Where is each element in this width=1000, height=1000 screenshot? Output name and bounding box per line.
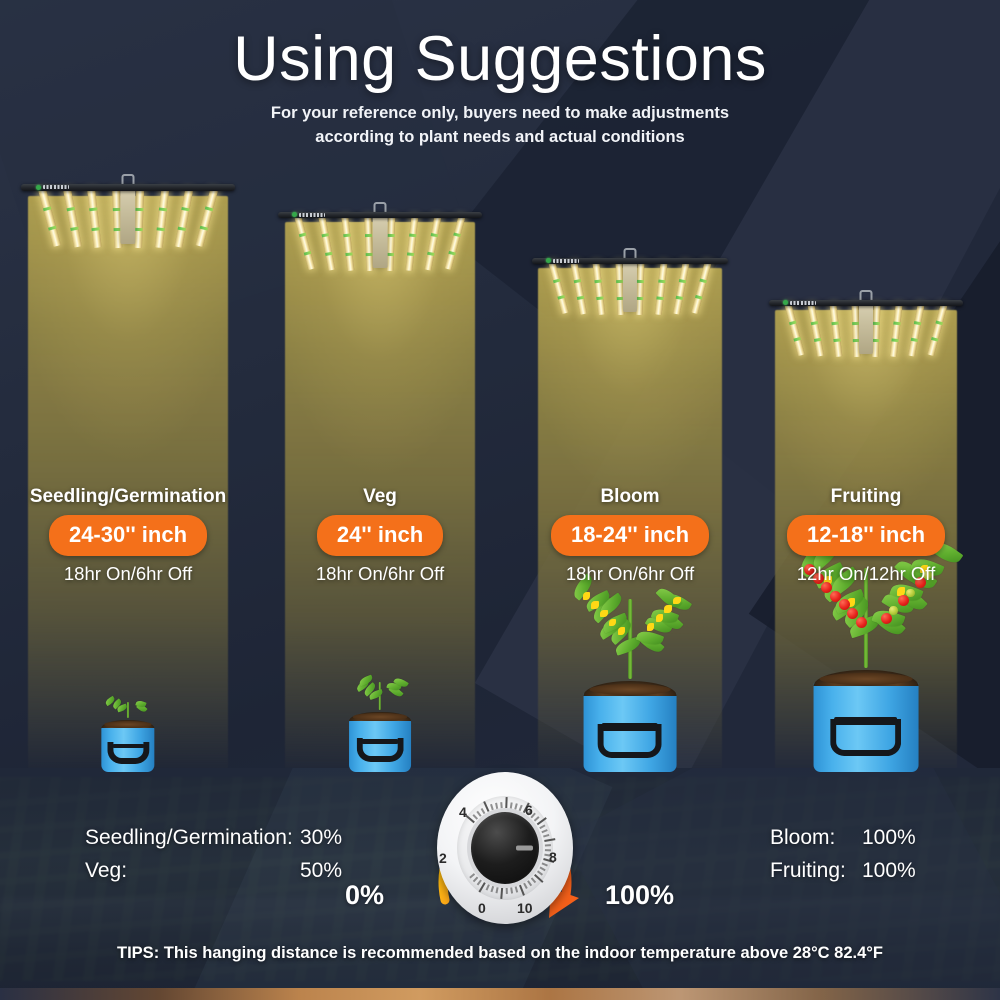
led-bar xyxy=(341,217,354,271)
panel-frame xyxy=(21,184,235,191)
dial-tick-number: 6 xyxy=(525,802,533,818)
dial-tick xyxy=(545,845,551,847)
dial-tick xyxy=(515,803,518,809)
led-bar xyxy=(195,189,217,247)
brightness-value: 30% xyxy=(300,822,342,855)
led-bar xyxy=(829,305,842,358)
dial-tick xyxy=(543,834,549,837)
plant-flower xyxy=(647,623,655,631)
led-bar xyxy=(571,262,588,314)
led-bar xyxy=(87,189,101,247)
led-bar xyxy=(318,217,335,271)
led-bar xyxy=(405,217,418,271)
dial-tick xyxy=(486,884,490,890)
dial-tick xyxy=(477,879,482,885)
tips-note: TIPS: This hanging distance is recommend… xyxy=(0,944,1000,963)
brightness-value: 100% xyxy=(862,822,916,855)
dial-tick xyxy=(542,863,548,867)
led-bar xyxy=(548,262,568,314)
dial-tick xyxy=(539,867,545,871)
led-bar xyxy=(295,216,316,270)
plant-flower xyxy=(656,614,664,622)
brightness-label: Seedling/Germination: xyxy=(85,822,300,855)
brightness-value: 50% xyxy=(300,855,342,888)
plant-flower xyxy=(591,601,599,609)
led-bar xyxy=(908,304,925,356)
led-bar xyxy=(593,263,606,316)
dial-tick xyxy=(506,888,508,894)
led-bar xyxy=(154,189,168,247)
plant-fruit xyxy=(856,617,867,628)
soil xyxy=(353,713,407,720)
dial-tick xyxy=(490,886,493,892)
dial-tick xyxy=(523,883,527,889)
panel-frame xyxy=(769,300,963,306)
subtitle-line-1: For your reference only, buyers need to … xyxy=(0,102,1000,124)
dial-tick xyxy=(473,876,478,881)
led-grow-light-panel xyxy=(278,212,482,270)
led-bar xyxy=(386,217,395,271)
driver-housing xyxy=(373,215,388,268)
plant-fruit xyxy=(839,599,850,610)
driver-housing xyxy=(120,187,135,244)
brand-logo xyxy=(292,214,325,216)
dial-tick xyxy=(495,803,498,809)
dial-tick xyxy=(469,873,475,878)
plant-fruit xyxy=(881,613,892,624)
grow-bag-handle-strap xyxy=(602,723,658,731)
panel-frame xyxy=(278,212,482,218)
brightness-row: Bloom:100% xyxy=(770,822,916,855)
led-bar xyxy=(636,263,645,315)
plant-flower xyxy=(583,592,591,600)
dial-tick xyxy=(510,802,512,808)
dial-tick xyxy=(531,878,536,884)
grow-bag xyxy=(349,712,411,772)
dial-tick-number: 2 xyxy=(439,850,447,866)
led-bar xyxy=(175,189,193,247)
brightness-label: Veg: xyxy=(85,855,300,888)
stage-info-fruiting: Fruiting12-18'' inch12hr On/12hr Off xyxy=(706,486,1000,585)
dial-tick xyxy=(484,801,490,812)
dial-tick xyxy=(527,880,532,886)
hanging-distance-badge: 12-18'' inch xyxy=(787,515,945,556)
dimmer-max-label: 100% xyxy=(605,880,674,911)
led-bar xyxy=(63,189,81,247)
brightness-label: Bloom: xyxy=(770,822,862,855)
knob-cap[interactable] xyxy=(471,812,539,884)
stage-name: Fruiting xyxy=(706,486,1000,508)
dial-tick-number: 0 xyxy=(478,900,486,916)
dial-tick xyxy=(490,804,493,810)
led-grow-light-panel xyxy=(532,258,728,314)
led-bar xyxy=(785,304,805,356)
hanging-distance-badge: 24'' inch xyxy=(317,515,443,556)
brightness-row: Veg:50% xyxy=(85,855,342,888)
dial-tick xyxy=(500,888,502,899)
dial-tick xyxy=(537,818,547,826)
led-bar xyxy=(807,304,824,356)
plant-flower xyxy=(664,605,672,613)
dial-tick xyxy=(477,811,482,817)
grow-bag-handle-strap xyxy=(361,739,398,744)
led-bar xyxy=(890,305,903,358)
grow-bag-handle-strap xyxy=(112,744,144,748)
plant-flower xyxy=(600,610,608,618)
dial-tick xyxy=(515,886,518,892)
led-bar xyxy=(39,189,61,247)
brightness-row: Fruiting:100% xyxy=(770,855,916,888)
plant-fruit xyxy=(889,606,898,615)
dial-tick xyxy=(534,816,540,821)
brightness-label: Fruiting: xyxy=(770,855,862,888)
plant-fruit xyxy=(898,595,909,606)
led-bar xyxy=(927,304,947,356)
grow-bag-handle-strap xyxy=(835,717,898,726)
driver-housing xyxy=(859,303,873,355)
page-title: Using Suggestions xyxy=(0,26,1000,92)
brand-logo xyxy=(36,186,69,189)
panel-frame xyxy=(532,258,728,264)
brand-logo xyxy=(546,260,579,262)
plant-fruit xyxy=(906,589,915,598)
knob-pointer-icon xyxy=(516,846,533,851)
bottom-accent-strip xyxy=(0,988,1000,1000)
dial-tick xyxy=(495,887,498,893)
hanging-distance-badge: 24-30'' inch xyxy=(49,515,207,556)
plant-fruit xyxy=(830,591,841,602)
hanging-distance-badge: 18-24'' inch xyxy=(551,515,709,556)
led-grow-light-panel xyxy=(21,184,235,246)
brightness-value: 100% xyxy=(862,855,916,888)
header: Using Suggestions For your reference onl… xyxy=(0,0,1000,149)
led-bar xyxy=(872,305,881,357)
dial-tick xyxy=(481,808,485,814)
driver-housing xyxy=(623,261,637,313)
dial-tick-number: 8 xyxy=(549,849,557,865)
grow-bag xyxy=(584,681,677,772)
dial-tick-number: 4 xyxy=(459,804,467,820)
soil xyxy=(589,684,671,695)
led-grow-light-panel xyxy=(769,300,963,356)
plant-stem xyxy=(127,702,129,718)
infographic-canvas: Using Suggestions For your reference onl… xyxy=(0,0,1000,1000)
light-cycle-label: 12hr On/12hr Off xyxy=(706,563,1000,585)
led-bar xyxy=(444,216,465,270)
dial-tick xyxy=(542,829,548,833)
brightness-row: Seedling/Germination:30% xyxy=(85,822,342,855)
dimmer-min-label: 0% xyxy=(345,880,384,911)
led-bar xyxy=(425,217,442,271)
led-bar xyxy=(673,262,690,314)
plant-flower xyxy=(673,597,681,605)
dial-tick xyxy=(537,871,543,876)
brightness-list-left: Seedling/Germination:30%Veg:50% xyxy=(85,822,342,887)
grow-bag xyxy=(101,720,154,772)
dial-tick xyxy=(510,887,512,893)
dial-tick xyxy=(478,882,485,892)
brand-logo xyxy=(783,302,816,304)
subtitle-line-2: according to plant needs and actual cond… xyxy=(0,126,1000,148)
dimmer-knob[interactable]: 0246810 0% 100% xyxy=(415,772,595,932)
soil xyxy=(105,721,152,727)
dial-tick xyxy=(506,797,508,808)
dial-tick xyxy=(519,805,523,811)
led-bar xyxy=(134,189,144,247)
brightness-list-right: Bloom:100%Fruiting:100% xyxy=(770,822,916,887)
led-bar xyxy=(692,262,712,314)
dial-tick xyxy=(539,825,545,829)
dial-tick-number: 10 xyxy=(517,900,533,916)
led-bar xyxy=(654,263,667,316)
grow-bag xyxy=(814,670,919,772)
dial-tick xyxy=(473,814,478,819)
dial-tick xyxy=(501,802,503,808)
